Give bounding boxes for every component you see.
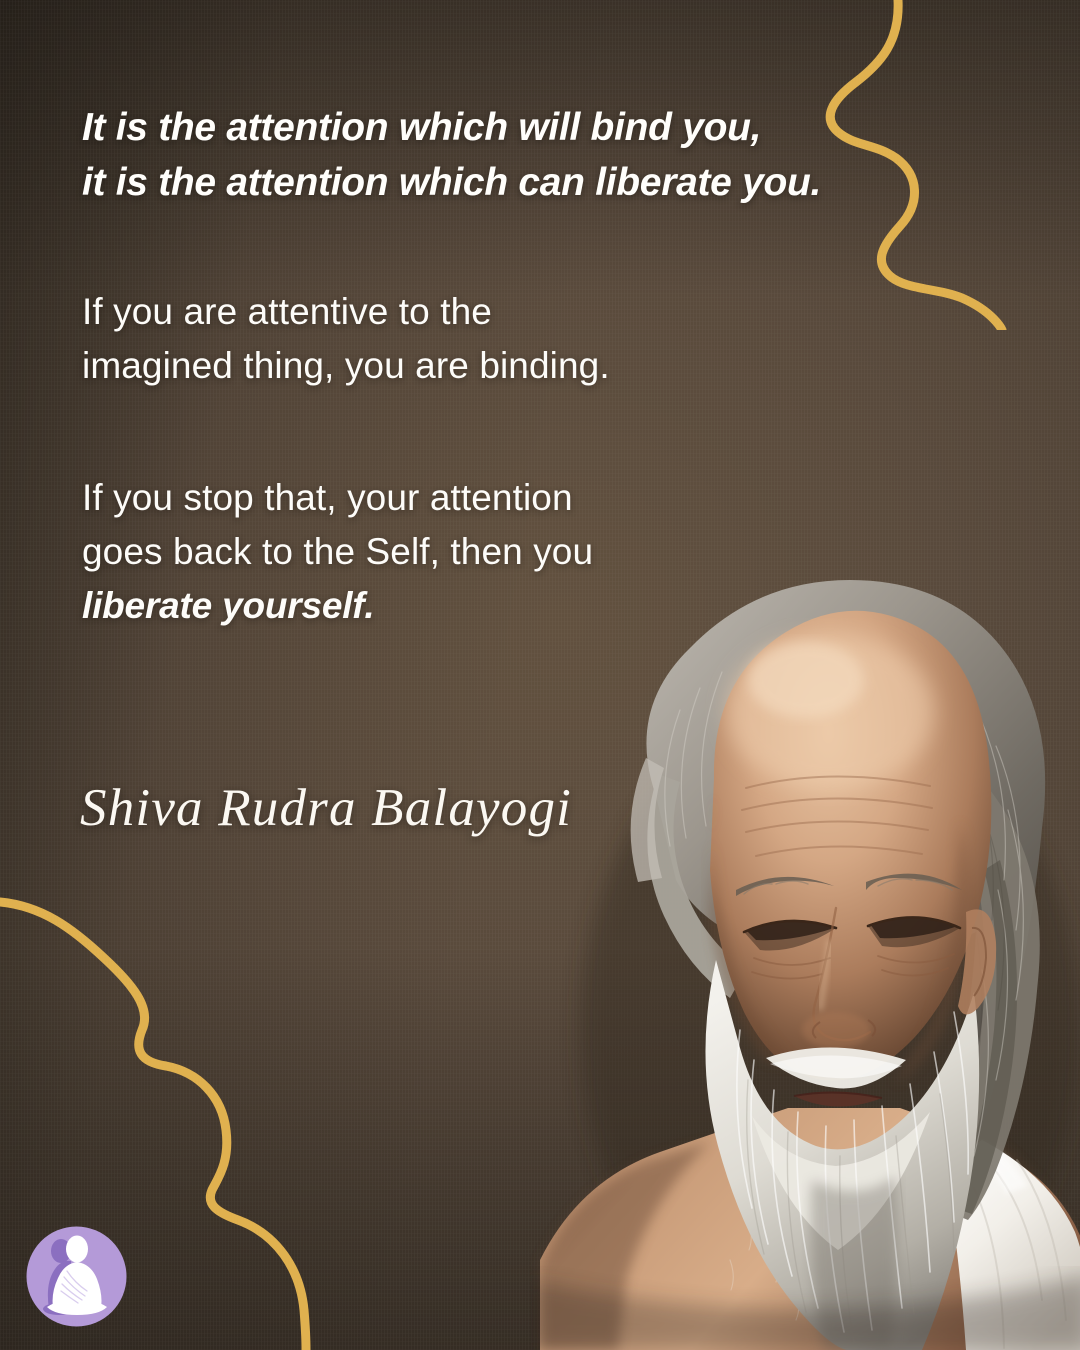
paragraph-1-line-1: If you are attentive to the bbox=[82, 285, 982, 339]
quote-headline: It is the attention which will bind you,… bbox=[82, 100, 982, 211]
attribution-name: Shiva Rudra Balayogi bbox=[80, 778, 572, 838]
headline-line-1: It is the attention which will bind you, bbox=[82, 100, 982, 155]
meditating-figure-badge[interactable] bbox=[25, 1225, 128, 1328]
headline-line-2: it is the attention which can liberate y… bbox=[82, 155, 982, 210]
quote-text-block: It is the attention which will bind you,… bbox=[82, 100, 982, 633]
portrait-photo bbox=[530, 560, 1080, 1350]
paragraph-2-line-1: If you stop that, your attention bbox=[82, 471, 982, 525]
quote-card: It is the attention which will bind you,… bbox=[0, 0, 1080, 1350]
paragraph-1-line-2: imagined thing, you are binding. bbox=[82, 339, 982, 393]
quote-paragraph-2: If you stop that, your attention goes ba… bbox=[82, 471, 982, 633]
quote-paragraph-1: If you are attentive to the imagined thi… bbox=[82, 285, 982, 393]
paragraph-2-emphasis: liberate yourself. bbox=[82, 579, 982, 633]
paragraph-2-line-2: goes back to the Self, then you bbox=[82, 525, 982, 579]
